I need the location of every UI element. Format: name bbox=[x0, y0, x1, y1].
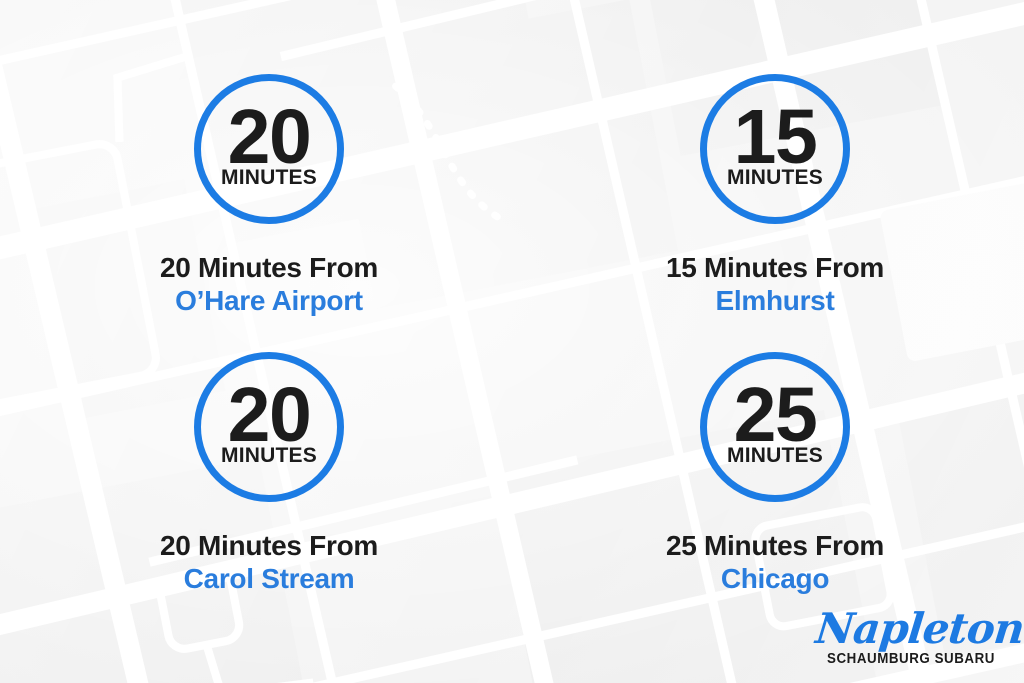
badge-number: 25 bbox=[734, 384, 817, 447]
minutes-badge-ohare-airport: 20 MINUTES bbox=[194, 74, 344, 224]
dealer-logo: Napleton's SCHAUMBURG SUBARU bbox=[816, 608, 1006, 667]
caption-location: Elmhurst bbox=[666, 285, 884, 316]
minutes-badge-carol-stream: 20 MINUTES bbox=[194, 352, 344, 502]
caption-primary: 20 Minutes From bbox=[160, 252, 378, 283]
dealer-logo-subtitle: SCHAUMBURG SUBARU bbox=[824, 651, 999, 667]
drive-time-card-chicago: 25 MINUTES 25 Minutes From Chicago bbox=[512, 352, 1024, 630]
caption-primary: 25 Minutes From bbox=[666, 530, 884, 561]
card-caption: 20 Minutes From O’Hare Airport bbox=[160, 252, 378, 317]
caption-location: O’Hare Airport bbox=[160, 285, 378, 316]
minutes-badge-chicago: 25 MINUTES bbox=[700, 352, 850, 502]
badge-number: 20 bbox=[228, 384, 311, 447]
dealer-logo-script: Napleton's bbox=[814, 608, 1008, 650]
caption-primary: 15 Minutes From bbox=[666, 252, 884, 283]
card-caption: 15 Minutes From Elmhurst bbox=[666, 252, 884, 317]
card-caption: 25 Minutes From Chicago bbox=[666, 530, 884, 595]
badge-number: 20 bbox=[228, 106, 311, 169]
caption-location: Chicago bbox=[666, 563, 884, 594]
drive-time-card-elmhurst: 15 MINUTES 15 Minutes From Elmhurst bbox=[512, 74, 1024, 352]
drive-time-grid: 20 MINUTES 20 Minutes From O’Hare Airpor… bbox=[0, 74, 1024, 630]
drive-times-graphic: 20 MINUTES 20 Minutes From O’Hare Airpor… bbox=[0, 0, 1024, 683]
content-layer: 20 MINUTES 20 Minutes From O’Hare Airpor… bbox=[0, 0, 1024, 683]
caption-primary: 20 Minutes From bbox=[160, 530, 378, 561]
badge-unit-label: MINUTES bbox=[727, 445, 823, 466]
badge-unit-label: MINUTES bbox=[221, 167, 317, 188]
badge-unit-label: MINUTES bbox=[727, 167, 823, 188]
card-caption: 20 Minutes From Carol Stream bbox=[160, 530, 378, 595]
drive-time-card-ohare-airport: 20 MINUTES 20 Minutes From O’Hare Airpor… bbox=[0, 74, 512, 352]
caption-location: Carol Stream bbox=[160, 563, 378, 594]
drive-time-card-carol-stream: 20 MINUTES 20 Minutes From Carol Stream bbox=[0, 352, 512, 630]
badge-number: 15 bbox=[734, 106, 817, 169]
badge-unit-label: MINUTES bbox=[221, 445, 317, 466]
minutes-badge-elmhurst: 15 MINUTES bbox=[700, 74, 850, 224]
